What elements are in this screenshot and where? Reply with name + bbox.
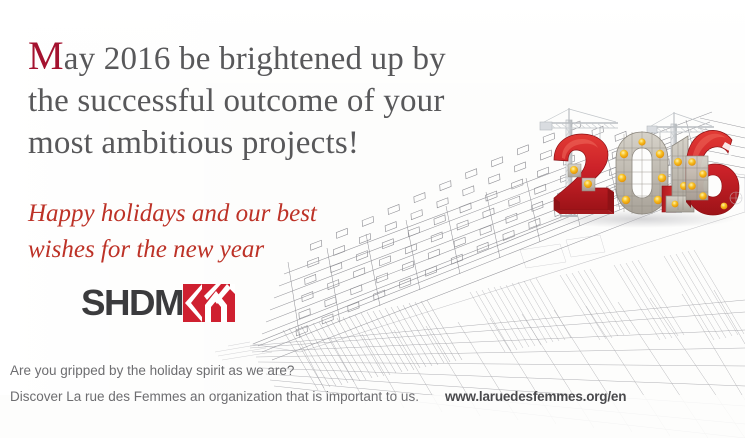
wishes-line-1: Happy holidays and our best	[28, 200, 317, 227]
digit-6	[686, 130, 739, 215]
footer-cta-row: Discover La rue des Femmes an organizati…	[10, 384, 745, 410]
shdm-wordmark: SHDM	[81, 285, 183, 321]
year-2016-construction-graphic	[532, 98, 745, 238]
headline: May 2016 be brightened up by the success…	[28, 38, 528, 164]
shdm-logo[interactable]: SHDM	[82, 284, 235, 322]
footer-discover-text: Discover La rue des Femmes an organizati…	[10, 384, 419, 410]
wishes-line-2: wishes for the new year	[28, 236, 264, 263]
footer: Are you gripped by the holiday spirit as…	[10, 358, 745, 410]
headline-line-3: most ambitious projects!	[28, 125, 359, 161]
headline-line-1: ay 2016 be brightened up by	[64, 41, 446, 77]
headline-dropcap: M	[28, 33, 64, 78]
greeting-card: May 2016 be brightened up by the success…	[0, 0, 745, 438]
shdm-roof-mark-icon	[183, 284, 235, 322]
footer-question: Are you gripped by the holiday spirit as…	[10, 358, 745, 384]
holiday-wishes: Happy holidays and our best wishes for t…	[28, 196, 388, 268]
digit-2	[554, 134, 614, 214]
headline-line-2: the successful outcome of your	[28, 83, 445, 119]
laruedesfemmes-link[interactable]: www.laruedesfemmes.org/en	[445, 389, 626, 404]
